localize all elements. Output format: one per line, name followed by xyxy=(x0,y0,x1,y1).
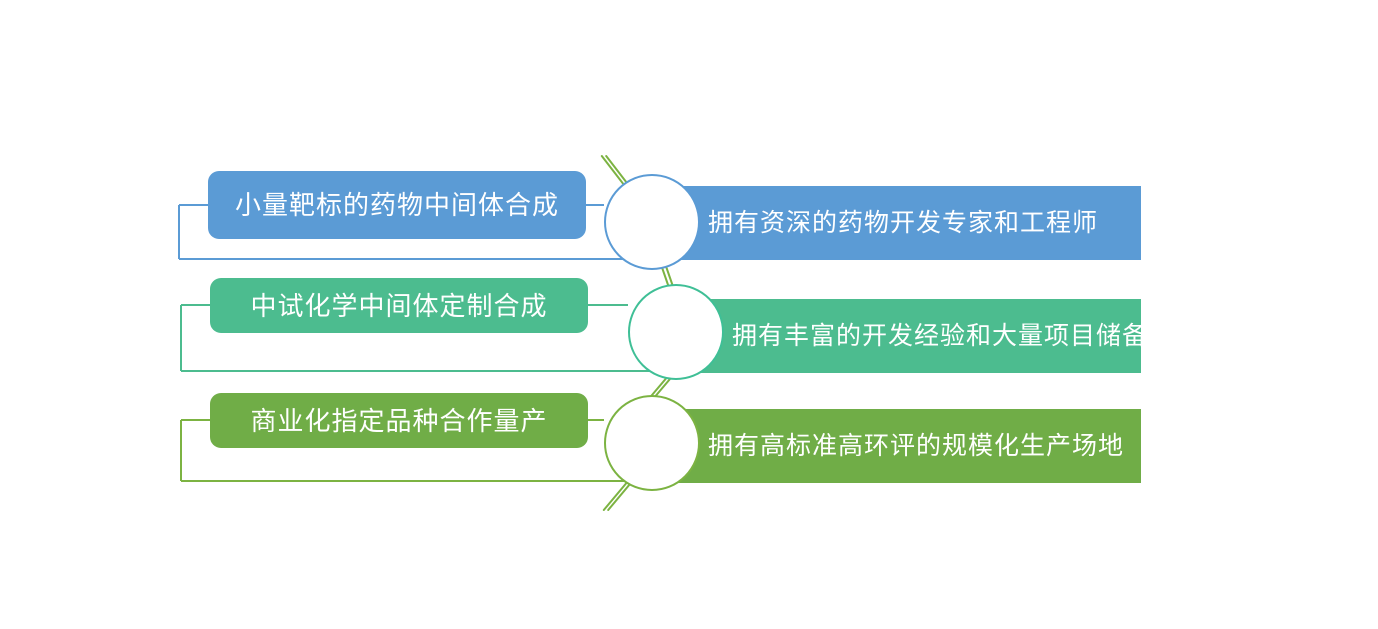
node-circle-1[interactable] xyxy=(604,174,700,270)
detail-bar-1[interactable]: 拥有资深的药物开发专家和工程师 xyxy=(655,186,1141,260)
stage-label-1: 小量靶标的药物中间体合成 xyxy=(235,192,559,218)
node-circle-3[interactable] xyxy=(604,395,700,491)
detail-bar-2[interactable]: 拥有丰富的开发经验和大量项目储备 xyxy=(680,299,1141,373)
stage-label-3: 商业化指定品种合作量产 xyxy=(250,408,547,434)
stage-box-2[interactable]: 中试化学中间体定制合成 xyxy=(210,278,588,333)
node-circle-2[interactable] xyxy=(628,284,724,380)
detail-label-2: 拥有丰富的开发经验和大量项目储备 xyxy=(732,324,1148,349)
detail-label-1: 拥有资深的药物开发专家和工程师 xyxy=(708,211,1098,236)
detail-bar-3[interactable]: 拥有高标准高环评的规模化生产场地 xyxy=(657,409,1141,483)
stage-label-2: 中试化学中间体定制合成 xyxy=(250,293,547,319)
stage-box-3[interactable]: 商业化指定品种合作量产 xyxy=(210,393,588,448)
diagram-canvas: 拥有资深的药物开发专家和工程师 小量靶标的药物中间体合成 拥有丰富的开发经验和大… xyxy=(0,0,1378,629)
stage-box-1[interactable]: 小量靶标的药物中间体合成 xyxy=(208,171,586,239)
detail-label-3: 拥有高标准高环评的规模化生产场地 xyxy=(708,434,1124,459)
